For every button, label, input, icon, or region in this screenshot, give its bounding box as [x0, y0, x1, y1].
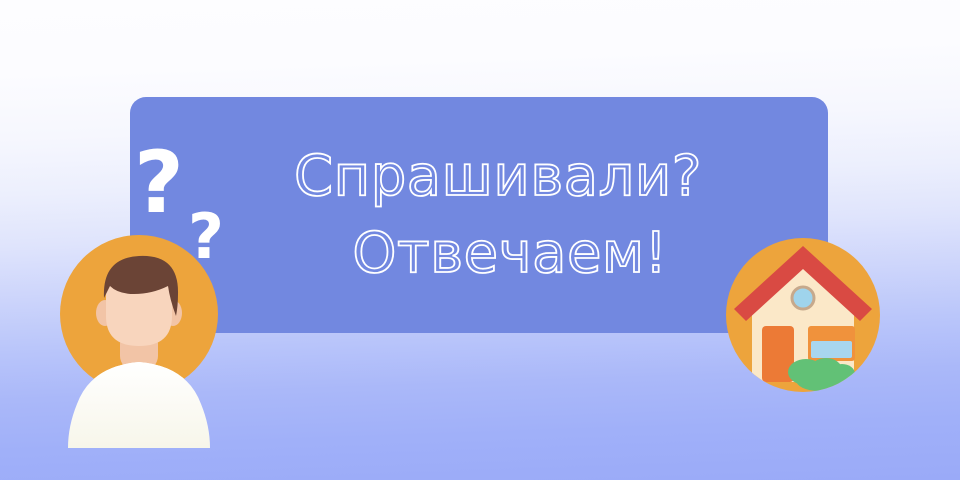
headline-line-2: Отвечаем!: [352, 221, 667, 286]
person-asking-avatar: [60, 235, 218, 448]
house-icon: [726, 238, 880, 392]
headline-line-1: Спрашивали?: [294, 144, 702, 209]
banner-canvas: Спрашивали? Отвечаем! ? ?: [0, 0, 960, 480]
house-window: [808, 326, 855, 361]
headline-card: [130, 97, 828, 333]
house-gable-window: [792, 287, 814, 309]
headline-card-shape: [130, 97, 828, 333]
banner-artwork: Спрашивали? Отвечаем! ? ?: [0, 0, 960, 480]
question-mark-large-icon: ?: [134, 133, 184, 233]
house-window-glass: [811, 341, 852, 358]
